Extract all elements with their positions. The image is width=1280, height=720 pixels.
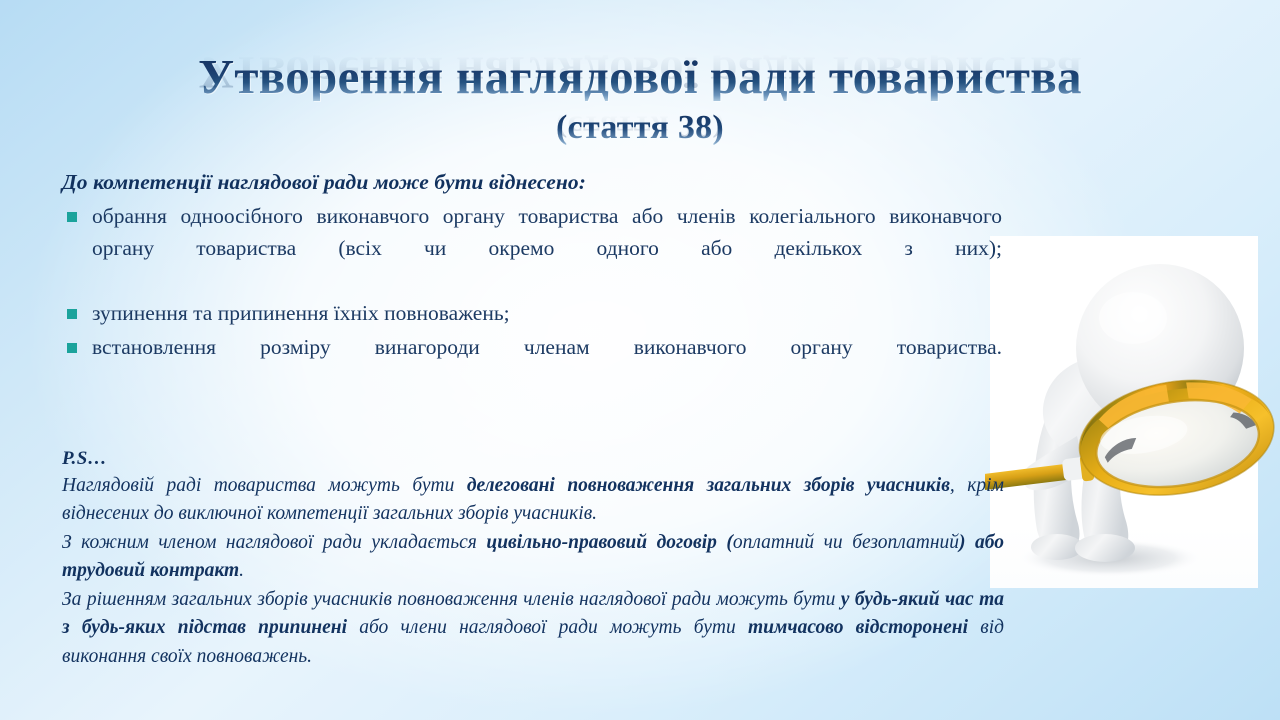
page-subtitle: (стаття 38): [0, 111, 1280, 145]
content-area: До компетенції наглядової ради може бути…: [62, 170, 1002, 398]
competence-bullet-list: обрання одноосібного виконавчого органу …: [62, 201, 1002, 396]
square-bullet-icon: [67, 309, 77, 319]
square-bullet-icon: [67, 343, 77, 353]
list-item: зупинення та припинення їхніх повноважен…: [62, 298, 1002, 330]
intro-sentence: До компетенції наглядової ради може бути…: [62, 170, 1002, 195]
postscript-paragraph: З кожним членом наглядової ради укладаєт…: [62, 529, 1004, 586]
square-bullet-icon: [67, 212, 77, 222]
list-item-label: зупинення та припинення їхніх повноважен…: [92, 298, 1002, 330]
list-item-label: обрання одноосібного виконавчого органу …: [92, 201, 1002, 296]
title-block: Утворення наглядової ради товариства Утв…: [0, 52, 1280, 145]
slide-subtitle-wrapper: (стаття 38) (стаття 38): [0, 111, 1280, 145]
postscript-label: P.S…: [62, 448, 1004, 470]
postscript-paragraph: Наглядовій раді товариства можуть бути д…: [62, 472, 1004, 529]
page-title: Утворення наглядової ради товариства: [0, 52, 1280, 101]
illustration-panel: [990, 236, 1258, 588]
list-item-label: встановлення розміру винагороди членам в…: [92, 332, 1002, 396]
list-item: встановлення розміру винагороди членам в…: [62, 332, 1002, 396]
slide-title-wrapper: Утворення наглядової ради товариства Утв…: [0, 52, 1280, 101]
postscript-paragraph: За рішенням загальних зборів учасників п…: [62, 586, 1004, 671]
postscript-block: P.S… Наглядовій раді товариства можуть б…: [62, 448, 1004, 671]
slide-canvas: Утворення наглядової ради товариства Утв…: [0, 0, 1280, 720]
list-item: обрання одноосібного виконавчого органу …: [62, 201, 1002, 296]
